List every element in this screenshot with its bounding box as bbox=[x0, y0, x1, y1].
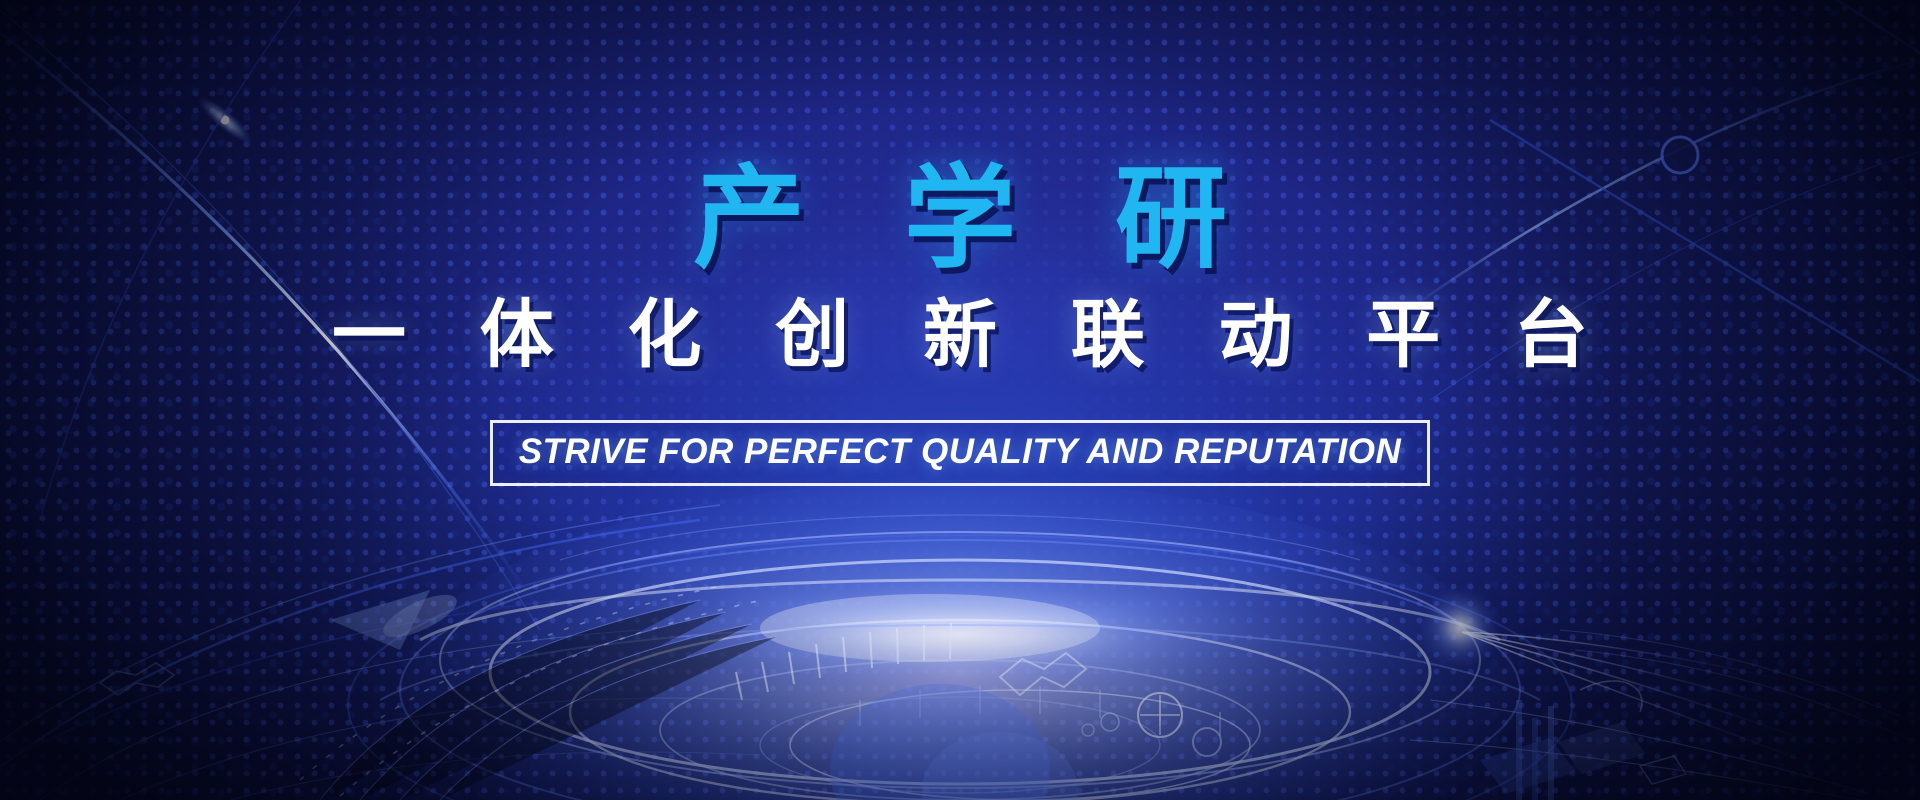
banner-title-sub: 一 体 化 创 新 联 动 平 台 bbox=[0, 295, 1920, 376]
banner-content: 产 学 研 一 体 化 创 新 联 动 平 台 STRIVE FOR PERFE… bbox=[0, 0, 1920, 486]
tagline-text: STRIVE FOR PERFECT QUALITY AND REPUTATIO… bbox=[519, 432, 1402, 472]
tech-banner: 产 学 研 一 体 化 创 新 联 动 平 台 STRIVE FOR PERFE… bbox=[0, 0, 1920, 800]
tagline-wrapper: STRIVE FOR PERFECT QUALITY AND REPUTATIO… bbox=[0, 420, 1920, 486]
banner-title-main: 产 学 研 bbox=[0, 160, 1920, 279]
tagline-box: STRIVE FOR PERFECT QUALITY AND REPUTATIO… bbox=[490, 420, 1431, 486]
